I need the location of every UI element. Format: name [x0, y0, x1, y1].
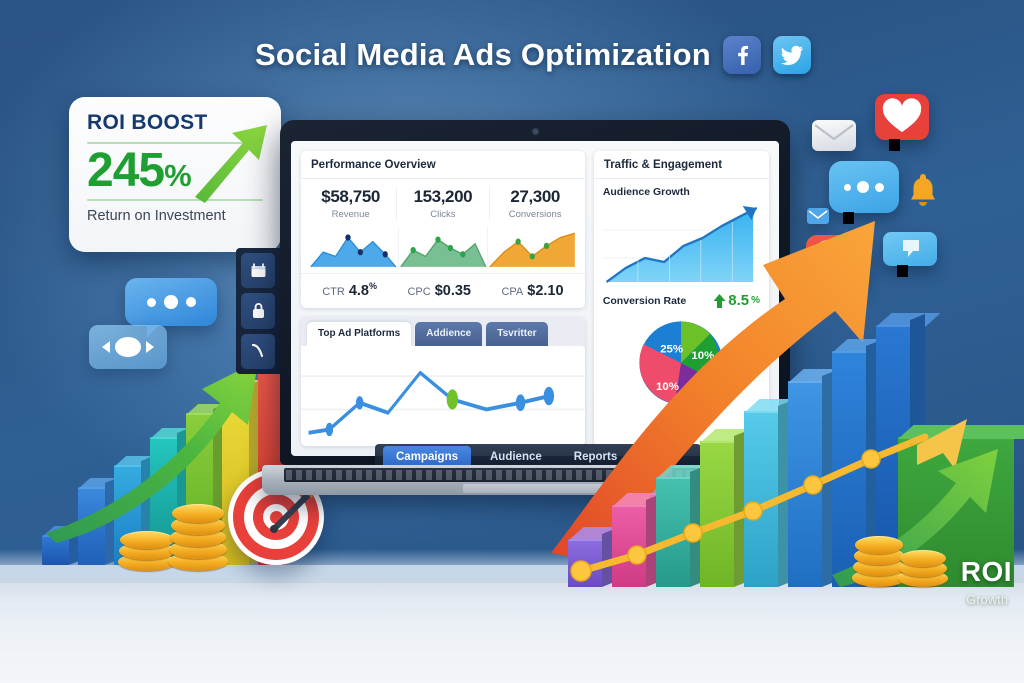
sidebar-item-calendar[interactable] — [241, 253, 275, 288]
coin — [172, 504, 224, 523]
coin-stack — [168, 499, 230, 571]
performance-overview-panel: Performance Overview $58,750 Revenue 153… — [301, 151, 585, 308]
kpi-label: Clicks — [399, 209, 486, 220]
twitter-icon[interactable] — [773, 36, 811, 74]
chat-dot — [844, 184, 851, 191]
kpi-value: $58,750 — [307, 187, 394, 207]
lock-icon — [251, 302, 266, 319]
coin — [855, 536, 903, 554]
tab-audience[interactable]: Addience — [415, 322, 482, 346]
facebook-icon[interactable] — [723, 36, 761, 74]
panel-title: Performance Overview — [301, 151, 585, 179]
tab-content — [301, 346, 585, 446]
kpi-revenue: $58,750 Revenue — [305, 187, 397, 220]
coin-stack — [898, 547, 950, 587]
chat-dots-icon — [125, 278, 217, 326]
heart-bubble-icon — [875, 94, 929, 140]
app-sidebar — [236, 248, 280, 374]
chat-dots-group — [125, 278, 217, 326]
sidebar-item-lock[interactable] — [241, 293, 275, 328]
metric-label: CPC — [407, 286, 430, 298]
coin — [120, 531, 174, 549]
metric-cpc: CPC $0.35 — [407, 283, 471, 299]
sidebar-item-phone[interactable] — [241, 334, 275, 369]
coin — [900, 550, 946, 567]
tab-twitter[interactable]: Tsvritter — [486, 322, 547, 346]
calendar-icon — [250, 263, 267, 279]
roi-boost-caption: Return on Investment — [87, 208, 263, 224]
metric-value: 4.8% — [349, 281, 377, 299]
header: Social Media Ads Optimization — [255, 36, 811, 74]
tab-top-ad-platforms[interactable]: Top Ad Platforms — [307, 322, 411, 346]
roi-boost-value: 245 — [87, 144, 164, 197]
tab-bar: Top Ad Platforms Addience Tsvritter — [301, 317, 585, 346]
webcam-icon — [533, 129, 538, 134]
sparkline-clicks — [399, 227, 489, 269]
metric-value: $0.35 — [435, 283, 471, 299]
sparkline-revenue — [309, 227, 399, 269]
chat-dot — [857, 181, 869, 193]
envelope-icon — [812, 120, 856, 151]
dashboard-left-column: Performance Overview $58,750 Revenue 153… — [301, 151, 585, 446]
kpi-label: Revenue — [307, 209, 394, 220]
phone-icon — [250, 343, 266, 359]
metric-unit: % — [369, 281, 377, 291]
sparkline-row — [301, 224, 585, 269]
platforms-tab-panel: Top Ad Platforms Addience Tsvritter — [301, 317, 585, 446]
metrics-row: CTR 4.8% CPC $0.35 CPA $2.10 — [301, 273, 585, 308]
chat-dot — [875, 183, 884, 192]
audience-growth-label: Audience Growth — [594, 179, 769, 202]
metric-number: 4.8 — [349, 283, 369, 299]
roi-growth-subtitle: Growth — [966, 592, 1008, 607]
page-title: Social Media Ads Optimization — [255, 37, 711, 73]
chat-dot — [186, 297, 196, 307]
kpi-value: 153,200 — [399, 187, 486, 207]
kpi-clicks: 153,200 Clicks — [397, 187, 489, 220]
screenshot-root: Social Media Ads Optimization ROI BOOST … — [0, 0, 1024, 683]
roi-boost-card: ROI BOOST 245% Return on Investment — [69, 97, 281, 252]
panel-title: Traffic & Engagement — [594, 151, 769, 179]
growth-arrow-icon — [187, 117, 273, 203]
chat-dot — [147, 298, 156, 307]
kpi-row: $58,750 Revenue 153,200 Clicks 27,300 Co… — [301, 179, 585, 224]
chat-dot — [164, 295, 178, 309]
metric-label: CPA — [501, 286, 523, 298]
metric-ctr: CTR 4.8% — [322, 281, 377, 299]
metric-label: CTR — [322, 286, 345, 298]
